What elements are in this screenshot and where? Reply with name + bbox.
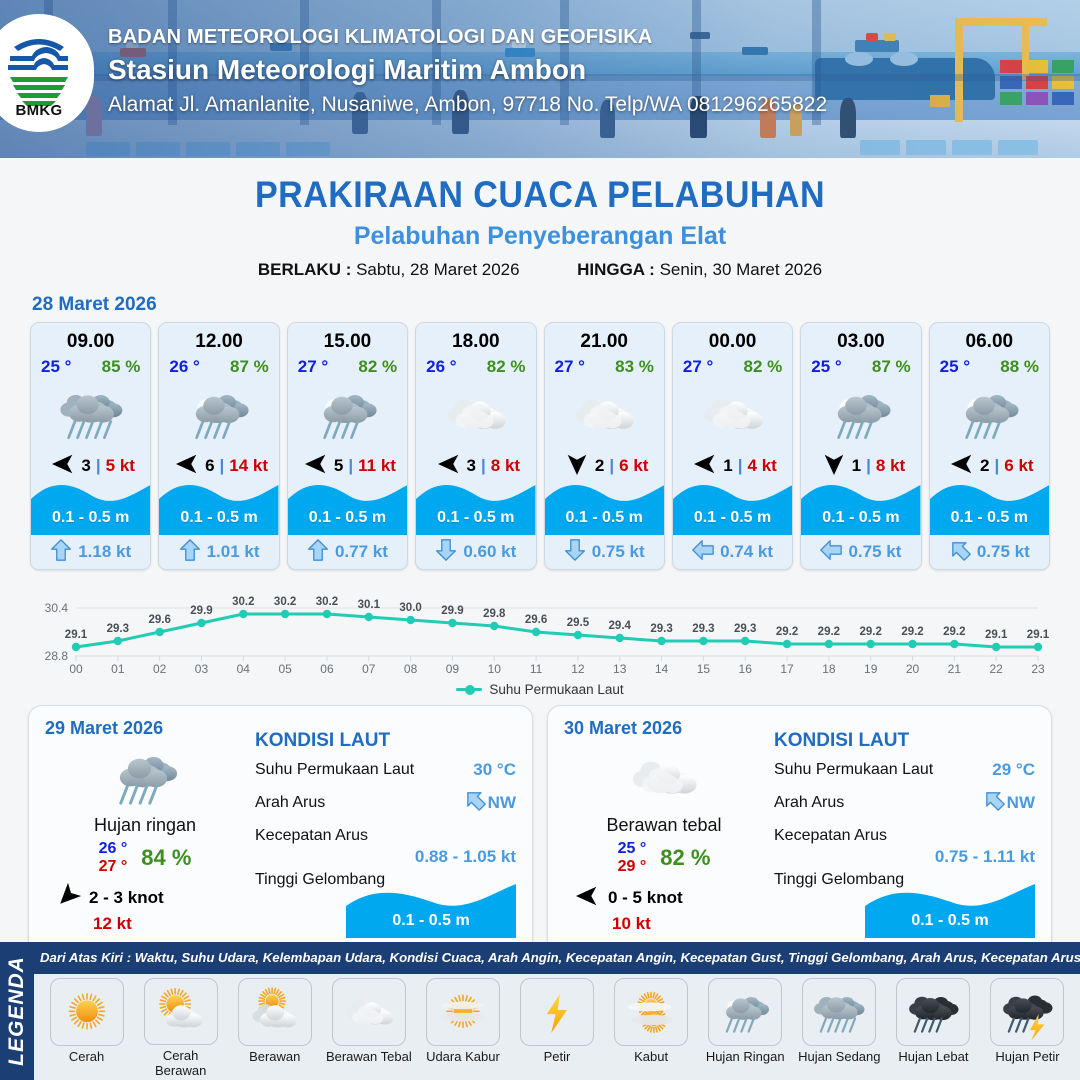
legend-item: Kabut (607, 978, 696, 1078)
legend-item-label: Berawan Tebal (326, 1049, 412, 1064)
legend-item-label: Hujan Petir (995, 1049, 1059, 1064)
card-temperature: 26 ° (426, 357, 456, 377)
daily-wind-arrow-icon (574, 885, 600, 912)
wind-direction-value: 3 (81, 456, 90, 476)
wind-speed-value: 11 kt (358, 456, 396, 476)
weather-icon-hujan-ringan (45, 741, 245, 813)
legend-item: Berawan Tebal (324, 978, 413, 1078)
legend-item-label: Hujan Lebat (898, 1049, 968, 1064)
sst-value: 29 °C (992, 760, 1035, 780)
separator: | (481, 456, 486, 476)
card-temperature: 27 ° (683, 357, 713, 377)
svg-text:11: 11 (530, 662, 543, 676)
wind-speed-value: 6 kt (619, 456, 648, 476)
legend-item: Berawan (230, 978, 319, 1078)
sea-condition-title: KONDISI LAUT (774, 730, 1035, 752)
hingga-value: Senin, 30 Maret 2026 (660, 260, 823, 279)
wind-direction-arrow-icon (692, 453, 718, 480)
current-speed-value: 0.75 kt (592, 542, 645, 562)
weather-icon-hujan-ringan (930, 377, 1049, 450)
daily-forecast-panel: 29 Maret 2026 Hujan ringan (28, 705, 533, 955)
svg-text:30.4: 30.4 (45, 601, 69, 615)
card-humidity: 87 % (230, 357, 269, 377)
svg-text:30.2: 30.2 (232, 596, 254, 608)
svg-text:03: 03 (195, 662, 209, 676)
wave-height-value: 0.1 - 0.5 m (159, 509, 278, 527)
current-speed-value: 1.18 kt (78, 542, 131, 562)
svg-text:19: 19 (864, 662, 878, 676)
daily-wind-range: 0 - 5 knot (608, 888, 683, 908)
wind-direction-arrow-icon (174, 453, 200, 480)
svg-text:23: 23 (1031, 662, 1045, 676)
separator: | (609, 456, 614, 476)
current-direction-arrow-icon (435, 538, 457, 567)
svg-text:29.9: 29.9 (441, 605, 463, 617)
current-direction-label: Arah Arus (774, 794, 844, 812)
wind-direction-arrow-icon (821, 453, 847, 480)
svg-text:29.2: 29.2 (776, 626, 798, 638)
legend-icon-kabut (614, 978, 688, 1046)
legend-item-label: Cerah Berawan (136, 1048, 225, 1078)
wind-speed-value: 8 kt (876, 456, 905, 476)
daily-wind-range: 2 - 3 knot (89, 888, 164, 908)
wind-speed-value: 5 kt (106, 456, 135, 476)
svg-text:02: 02 (153, 662, 167, 676)
legend-icon-hujan-petir (990, 978, 1064, 1046)
current-speed-value: 0.77 kt (335, 542, 388, 562)
hourly-card: 00.00 27 ° 82 % (672, 322, 793, 570)
svg-text:29.6: 29.6 (525, 614, 547, 626)
svg-text:10: 10 (488, 662, 502, 676)
current-direction-value: NW (488, 793, 516, 813)
svg-text:29.8: 29.8 (483, 608, 506, 620)
daily-temp-max: 29 ° (618, 858, 647, 876)
legend-icon-row: Cerah Cerah Berawan (34, 974, 1080, 1080)
wind-direction-value: 2 (980, 456, 989, 476)
current-speed-value: 0.75 - 1.11 kt (774, 847, 1035, 867)
wave-height-value: 0.1 - 0.5 m (801, 509, 920, 527)
svg-text:29.3: 29.3 (650, 623, 672, 635)
wave-height-value: 0.1 - 0.5 m (930, 509, 1049, 527)
svg-text:28.8: 28.8 (45, 649, 69, 663)
separator: | (96, 456, 101, 476)
current-speed-label: Kecepatan Arus (255, 827, 368, 845)
weather-icon-hujan-ringan (801, 377, 920, 450)
card-humidity: 88 % (1000, 357, 1039, 377)
legend-icon-hujan-lebat (896, 978, 970, 1046)
card-temperature: 25 ° (940, 357, 970, 377)
legend-icon-cerah (50, 978, 124, 1046)
current-speed-value: 1.01 kt (207, 542, 260, 562)
svg-text:29.2: 29.2 (901, 626, 923, 638)
current-direction-value: NW (1007, 793, 1035, 813)
wave-block: 0.1 - 0.5 m (801, 482, 920, 535)
legend-icon-udara-kabur (426, 978, 500, 1046)
daily-temp-max: 27 ° (99, 858, 128, 876)
svg-text:29.2: 29.2 (818, 626, 840, 638)
hourly-card: 21.00 27 ° 83 % (544, 322, 665, 570)
weather-icon-berawan-tebal (416, 377, 535, 450)
hourly-date: 28 Maret 2026 (32, 294, 1080, 316)
wave-height-value: 0.1 - 0.5 m (673, 509, 792, 527)
svg-text:29.1: 29.1 (985, 629, 1008, 641)
card-time: 06.00 (930, 323, 1049, 353)
hourly-card: 18.00 26 ° 82 % (415, 322, 536, 570)
svg-text:01: 01 (111, 662, 125, 676)
wind-speed-value: 14 kt (229, 456, 268, 476)
svg-text:29.1: 29.1 (1027, 629, 1050, 641)
wind-direction-arrow-icon (564, 453, 590, 480)
svg-text:29.3: 29.3 (692, 623, 714, 635)
legend-item: Cerah (42, 978, 131, 1078)
separator: | (738, 456, 743, 476)
sea-condition-title: KONDISI LAUT (255, 730, 516, 752)
card-time: 03.00 (801, 323, 920, 353)
card-temperature: 27 ° (555, 357, 585, 377)
daily-temp-min: 26 ° (99, 840, 128, 858)
berlaku-label: BERLAKU : (258, 260, 352, 279)
card-time: 18.00 (416, 323, 535, 353)
svg-text:29.3: 29.3 (734, 623, 756, 635)
daily-wave-value: 0.1 - 0.5 m (865, 912, 1035, 930)
current-direction-arrow-icon (464, 788, 486, 817)
daily-condition: Berawan tebal (564, 815, 764, 836)
wave-height-value: 0.1 - 0.5 m (288, 509, 407, 527)
wave-block: 0.1 - 0.5 m (545, 482, 664, 535)
legend-item-label: Kabut (634, 1049, 668, 1064)
daily-humidity: 84 % (141, 845, 191, 871)
current-direction-arrow-icon (692, 538, 714, 567)
current-direction-label: Arah Arus (255, 794, 325, 812)
legend-item-label: Hujan Sedang (798, 1049, 880, 1064)
daily-gust-value: 12 kt (45, 914, 245, 934)
card-humidity: 85 % (102, 357, 141, 377)
svg-text:15: 15 (697, 662, 711, 676)
hourly-card-row: 09.00 25 ° 85 % (0, 322, 1080, 570)
wind-direction-arrow-icon (303, 453, 329, 480)
daily-condition: Hujan ringan (45, 815, 245, 836)
hourly-card: 15.00 27 ° 82 % (287, 322, 408, 570)
wave-height-value: 0.1 - 0.5 m (545, 509, 664, 527)
current-direction-arrow-icon (983, 788, 1005, 817)
svg-text:07: 07 (362, 662, 376, 676)
station-name: Stasiun Meteorologi Maritim Ambon (108, 54, 827, 86)
card-temperature: 27 ° (298, 357, 328, 377)
legend-icon-berawan-tebal (332, 978, 406, 1046)
separator: | (866, 456, 871, 476)
validity-line: BERLAKU : Sabtu, 28 Maret 2026 HINGGA : … (0, 260, 1080, 280)
wind-direction-value: 6 (205, 456, 214, 476)
svg-text:12: 12 (571, 662, 585, 676)
legend-item: Hujan Sedang (795, 978, 884, 1078)
wind-speed-value: 8 kt (491, 456, 520, 476)
legend-icon-berawan (238, 978, 312, 1046)
legend-icon-hujan-ringan (708, 978, 782, 1046)
weather-icon-berawan-tebal (564, 741, 764, 813)
svg-text:30.2: 30.2 (274, 596, 296, 608)
svg-text:29.2: 29.2 (943, 626, 965, 638)
card-temperature: 25 ° (41, 357, 71, 377)
wave-block: 0.1 - 0.5 m (288, 482, 407, 535)
wave-block: 0.1 - 0.5 m (673, 482, 792, 535)
svg-text:29.6: 29.6 (148, 614, 170, 626)
legend-item-label: Petir (544, 1049, 571, 1064)
wave-height-value: 0.1 - 0.5 m (416, 509, 535, 527)
hourly-card: 03.00 25 ° 87 % (800, 322, 921, 570)
page-title: PRAKIRAAN CUACA PELABUHAN (43, 174, 1037, 216)
page-subtitle: Pelabuhan Penyeberangan Elat (0, 222, 1080, 251)
card-temperature: 26 ° (169, 357, 199, 377)
daily-panel-row: 29 Maret 2026 Hujan ringan (0, 697, 1080, 955)
svg-text:30.1: 30.1 (358, 599, 381, 611)
current-speed-value: 0.75 kt (977, 542, 1030, 562)
daily-wind-arrow-icon (55, 885, 81, 912)
svg-text:13: 13 (613, 662, 627, 676)
daily-gust-value: 10 kt (564, 914, 764, 934)
wind-direction-arrow-icon (436, 453, 462, 480)
current-speed-value: 0.60 kt (463, 542, 516, 562)
legend-item: Petir (512, 978, 601, 1078)
weather-icon-berawan-tebal (545, 377, 664, 450)
svg-text:16: 16 (739, 662, 753, 676)
wind-direction-value: 5 (334, 456, 343, 476)
svg-text:04: 04 (237, 662, 251, 676)
svg-text:14: 14 (655, 662, 669, 676)
legend-item: Hujan Petir (983, 978, 1072, 1078)
svg-text:29.4: 29.4 (609, 620, 632, 632)
card-time: 12.00 (159, 323, 278, 353)
card-time: 15.00 (288, 323, 407, 353)
card-time: 09.00 (31, 323, 150, 353)
station-address: Alamat Jl. Amanlanite, Nusaniwe, Ambon, … (108, 93, 827, 117)
current-direction-arrow-icon (820, 538, 842, 567)
wind-direction-arrow-icon (949, 453, 975, 480)
card-humidity: 82 % (358, 357, 397, 377)
page-header: BMKG BADAN METEOROLOGI KLIMATOLOGI DAN G… (0, 0, 1080, 158)
hourly-card: 12.00 26 ° 87 % (158, 322, 279, 570)
svg-text:29.3: 29.3 (107, 623, 129, 635)
legend-side-label: LEGENDA (0, 942, 34, 1080)
legend-item-label: Hujan Ringan (706, 1049, 785, 1064)
legend-icon-cerah-berawan (144, 978, 218, 1045)
card-humidity: 82 % (744, 357, 783, 377)
sst-value: 30 °C (473, 760, 516, 780)
card-humidity: 82 % (487, 357, 526, 377)
agency-name: BADAN METEOROLOGI KLIMATOLOGI DAN GEOFIS… (108, 26, 827, 49)
svg-text:08: 08 (404, 662, 418, 676)
svg-text:29.2: 29.2 (860, 626, 882, 638)
daily-temp-min: 25 ° (618, 840, 647, 858)
svg-text:22: 22 (989, 662, 1003, 676)
sst-chart: 30.428.800010203040506070809101112131415… (28, 580, 1052, 680)
legend-strip: LEGENDA Dari Atas Kiri : Waktu, Suhu Uda… (0, 942, 1080, 1080)
wind-direction-value: 3 (467, 456, 476, 476)
separator: | (995, 456, 1000, 476)
daily-wave-block: 0.1 - 0.5 m (865, 878, 1035, 938)
wind-direction-value: 1 (852, 456, 861, 476)
current-direction-arrow-icon (307, 538, 329, 567)
svg-text:06: 06 (320, 662, 334, 676)
legend-icon-petir (520, 978, 594, 1046)
legend-marker-icon (456, 688, 482, 691)
svg-text:29.1: 29.1 (65, 629, 88, 641)
wind-speed-value: 6 kt (1004, 456, 1033, 476)
title-block: PRAKIRAAN CUACA PELABUHAN Pelabuhan Peny… (0, 174, 1080, 280)
legend-icon-hujan-sedang (802, 978, 876, 1046)
card-humidity: 87 % (872, 357, 911, 377)
svg-text:20: 20 (906, 662, 920, 676)
svg-text:09: 09 (446, 662, 460, 676)
svg-text:29.5: 29.5 (567, 617, 590, 629)
separator: | (348, 456, 353, 476)
wave-block: 0.1 - 0.5 m (159, 482, 278, 535)
card-temperature: 25 ° (811, 357, 841, 377)
svg-text:00: 00 (69, 662, 83, 676)
legend-item: Hujan Lebat (889, 978, 978, 1078)
separator: | (220, 456, 225, 476)
svg-text:30.0: 30.0 (399, 602, 421, 614)
logo-label: BMKG (0, 102, 78, 119)
daily-humidity: 82 % (660, 845, 710, 871)
legend-note: Dari Atas Kiri : Waktu, Suhu Udara, Kele… (40, 950, 1076, 965)
wave-block: 0.1 - 0.5 m (31, 482, 150, 535)
current-speed-value: 0.75 kt (848, 542, 901, 562)
daily-wave-value: 0.1 - 0.5 m (346, 912, 516, 930)
wind-direction-arrow-icon (50, 453, 76, 480)
weather-icon-hujan-ringan (159, 377, 278, 450)
daily-date: 29 Maret 2026 (45, 718, 245, 739)
wind-direction-value: 1 (723, 456, 732, 476)
daily-wave-block: 0.1 - 0.5 m (346, 878, 516, 938)
legend-item: Hujan Ringan (701, 978, 790, 1078)
legend-item: Udara Kabur (418, 978, 507, 1078)
wave-block: 0.1 - 0.5 m (930, 482, 1049, 535)
daily-forecast-panel: 30 Maret 2026 (547, 705, 1052, 955)
sst-label: Suhu Permukaan Laut (255, 761, 414, 779)
current-speed-label: Kecepatan Arus (774, 827, 887, 845)
wave-block: 0.1 - 0.5 m (416, 482, 535, 535)
weather-icon-berawan-tebal (673, 377, 792, 450)
legend-item-label: Cerah (69, 1049, 104, 1064)
wave-height-value: 0.1 - 0.5 m (31, 509, 150, 527)
weather-icon-hujan-sedang (31, 377, 150, 450)
hingga-label: HINGGA : (577, 260, 655, 279)
current-direction-arrow-icon (949, 538, 971, 567)
legend-item-label: Udara Kabur (426, 1049, 500, 1064)
svg-text:05: 05 (278, 662, 292, 676)
daily-date: 30 Maret 2026 (564, 718, 764, 739)
current-direction-arrow-icon (564, 538, 586, 567)
hourly-card: 09.00 25 ° 85 % (30, 322, 151, 570)
current-speed-value: 0.88 - 1.05 kt (255, 847, 516, 867)
svg-text:29.9: 29.9 (190, 605, 212, 617)
berlaku-value: Sabtu, 28 Maret 2026 (356, 260, 520, 279)
hourly-card: 06.00 25 ° 88 % (929, 322, 1050, 570)
card-time: 21.00 (545, 323, 664, 353)
svg-text:17: 17 (780, 662, 794, 676)
wind-direction-value: 2 (595, 456, 604, 476)
svg-text:30.2: 30.2 (316, 596, 338, 608)
card-time: 00.00 (673, 323, 792, 353)
svg-text:18: 18 (822, 662, 836, 676)
wind-speed-value: 4 kt (748, 456, 777, 476)
legend-item-label: Berawan (249, 1049, 300, 1064)
chart-legend: Suhu Permukaan Laut (0, 682, 1080, 697)
sst-label: Suhu Permukaan Laut (774, 761, 933, 779)
card-humidity: 83 % (615, 357, 654, 377)
legend-label: Suhu Permukaan Laut (489, 682, 623, 697)
current-direction-arrow-icon (179, 538, 201, 567)
weather-icon-hujan-ringan (288, 377, 407, 450)
svg-text:21: 21 (948, 662, 962, 676)
current-direction-arrow-icon (50, 538, 72, 567)
current-speed-value: 0.74 kt (720, 542, 773, 562)
legend-item: Cerah Berawan (136, 978, 225, 1078)
